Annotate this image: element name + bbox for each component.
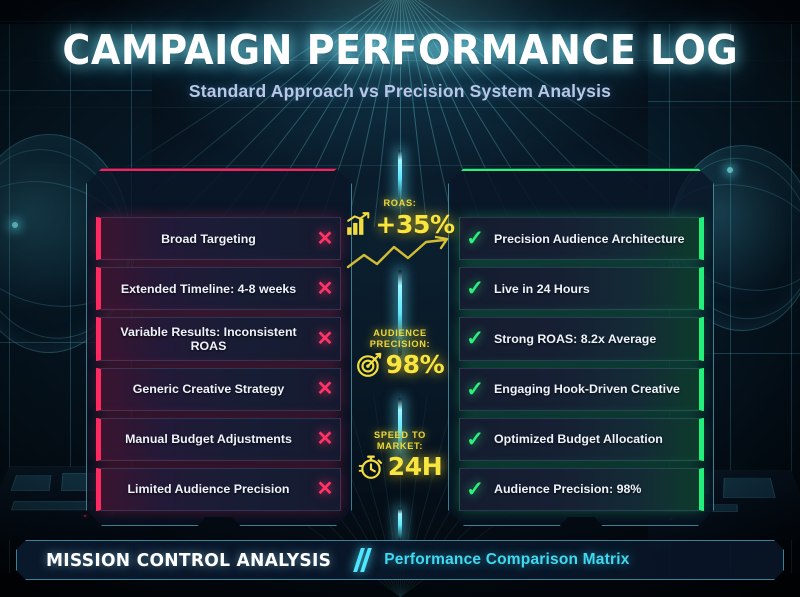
metric-precision-value: 98%	[386, 350, 445, 379]
standard-approach-list: Broad Targeting✕Extended Timeline: 4-8 w…	[97, 177, 341, 511]
check-icon: ✓	[460, 379, 490, 400]
metric-roas-value: +35%	[375, 210, 454, 239]
page-title: CAMPAIGN PERFORMANCE LOG	[62, 26, 738, 74]
metric-roas: ROAS: +35%	[340, 198, 460, 239]
list-item-system[interactable]: ✓Audience Precision: 98%	[459, 468, 703, 511]
x-icon: ✕	[310, 379, 340, 399]
list-item-label: Variable Results: Inconsistent ROAS	[101, 325, 310, 353]
title-block: CAMPAIGN PERFORMANCE LOG Standard Approa…	[0, 26, 800, 102]
check-icon: ✓	[460, 479, 490, 500]
divider-beam-segment	[398, 508, 402, 542]
center-metrics-column: ROAS: +35% AUDIENCE PRECISION:	[340, 150, 460, 540]
list-item-label: Extended Timeline: 4-8 weeks	[101, 282, 310, 296]
x-icon: ✕	[310, 479, 340, 499]
standard-approach-panel: STANDARD APPROACH Broad Targeting✕Extend…	[86, 168, 352, 526]
list-item-standard[interactable]: Broad Targeting✕	[97, 217, 341, 260]
x-icon: ✕	[310, 429, 340, 449]
x-icon: ✕	[310, 229, 340, 249]
list-item-system[interactable]: ✓Strong ROAS: 8.2x Average	[459, 317, 703, 360]
list-item-standard[interactable]: Manual Budget Adjustments✕	[97, 418, 341, 461]
list-item-standard[interactable]: Limited Audience Precision✕	[97, 468, 341, 511]
shantanus-system-list: ✓Precision Audience Architecture✓Live in…	[459, 177, 703, 511]
metric-speed-value: 24H	[388, 452, 443, 481]
footer-subtitle: Performance Comparison Matrix	[384, 551, 629, 569]
list-item-label: Manual Budget Adjustments	[101, 432, 310, 446]
list-item-system[interactable]: ✓Live in 24 Hours	[459, 267, 703, 310]
list-item-label: Generic Creative Strategy	[101, 382, 310, 396]
stopwatch-icon	[358, 454, 384, 480]
metric-speed-to-market: SPEED TO MARKET: 24H	[340, 430, 460, 481]
metric-precision-label-line1: AUDIENCE	[340, 328, 460, 339]
x-icon: ✕	[310, 329, 340, 349]
shantanus-system-panel: SHANTANU'S SYSTEM ✓Precision Audience Ar…	[448, 168, 714, 526]
list-item-label: Engaging Hook-Driven Creative	[490, 382, 699, 396]
list-item-standard[interactable]: Generic Creative Strategy✕	[97, 368, 341, 411]
list-item-standard[interactable]: Variable Results: Inconsistent ROAS✕	[97, 317, 341, 360]
page-subtitle: Standard Approach vs Precision System An…	[0, 81, 800, 102]
check-icon: ✓	[460, 429, 490, 450]
list-item-label: Strong ROAS: 8.2x Average	[490, 332, 699, 346]
list-item-label: Broad Targeting	[101, 232, 310, 246]
orbit-blip	[727, 167, 733, 173]
target-icon	[356, 352, 382, 378]
list-item-standard[interactable]: Extended Timeline: 4-8 weeks✕	[97, 267, 341, 310]
footer-title: MISSION CONTROL ANALYSIS	[25, 550, 331, 571]
metric-roas-label: ROAS:	[340, 198, 460, 209]
check-icon: ✓	[460, 228, 490, 249]
metric-speed-label-line2: MARKET:	[340, 441, 460, 452]
list-item-label: Audience Precision: 98%	[490, 482, 699, 496]
bar-chart-icon	[345, 211, 371, 237]
list-item-system[interactable]: ✓Engaging Hook-Driven Creative	[459, 368, 703, 411]
list-item-label: Live in 24 Hours	[490, 282, 699, 296]
list-item-label: Precision Audience Architecture	[490, 232, 699, 246]
list-item-system[interactable]: ✓Optimized Budget Allocation	[459, 418, 703, 461]
list-item-system[interactable]: ✓Precision Audience Architecture	[459, 217, 703, 260]
list-item-label: Limited Audience Precision	[101, 482, 310, 496]
double-slash-icon	[357, 548, 368, 572]
check-icon: ✓	[460, 278, 490, 299]
metric-speed-label-line1: SPEED TO	[340, 430, 460, 441]
x-icon: ✕	[310, 279, 340, 299]
metric-audience-precision: AUDIENCE PRECISION: 98%	[340, 328, 460, 379]
infographic-canvas: CAMPAIGN PERFORMANCE LOG Standard Approa…	[0, 0, 800, 597]
list-item-label: Optimized Budget Allocation	[490, 432, 699, 446]
metric-precision-label-line2: PRECISION:	[340, 339, 460, 350]
footer-bar: MISSION CONTROL ANALYSIS Performance Com…	[16, 540, 784, 580]
check-icon: ✓	[460, 328, 490, 349]
globe-blip	[12, 222, 18, 228]
trend-line-graphic	[346, 234, 454, 274]
